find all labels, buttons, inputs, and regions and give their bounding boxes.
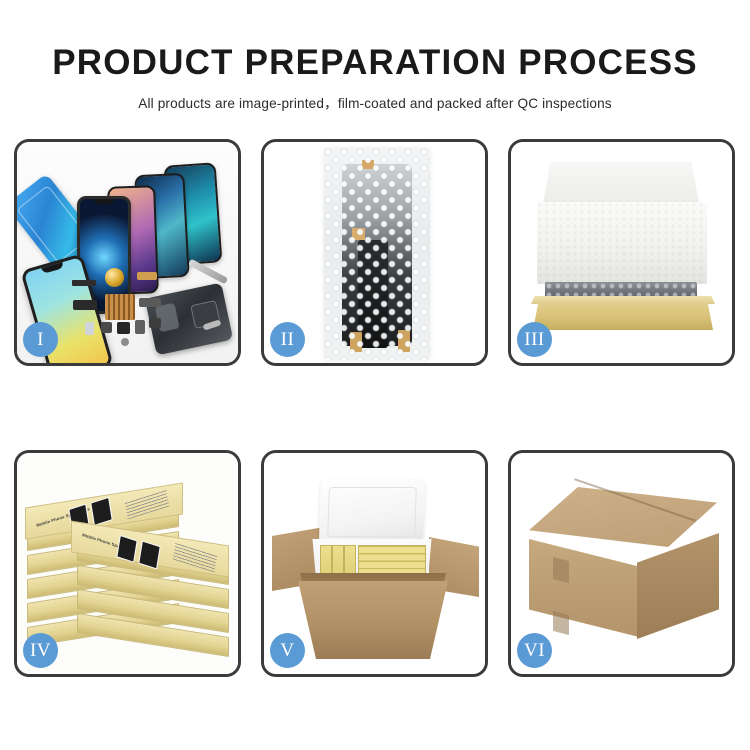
box-spec-lines-icon (125, 489, 169, 519)
page-subtitle: All products are image-printed，film-coat… (0, 82, 750, 112)
phone-notch-icon (41, 262, 64, 274)
step-panel-1[interactable]: I Mobile phone LCD screens, tempered gla… (14, 139, 241, 366)
step-badge-4: IV (23, 633, 58, 668)
step-badge-1: I (23, 322, 58, 357)
flex-cable-part-icon (73, 300, 97, 310)
step-panel-3[interactable]: III Item placed in yellow inner box with… (508, 139, 735, 366)
step-panel-5[interactable]: V Boxes loaded into styrofoam cooler ins… (261, 450, 488, 677)
box-spec-lines-icon (173, 542, 217, 572)
step-badge-2: II (270, 322, 305, 357)
small-part-icon (135, 320, 145, 334)
logic-board-part-icon (105, 294, 135, 320)
step-panel-4[interactable]: Mobile Phone Spare Parts Mobile Phone Sp… (14, 450, 241, 677)
step-badge-6: VI (517, 633, 552, 668)
box-artwork-screen-icon (116, 535, 137, 563)
vibration-motor-part-icon (105, 268, 124, 287)
step-panel-2[interactable]: II Single screen sealed in bubble wrap b… (261, 139, 488, 366)
box-artwork-screen-icon (90, 497, 113, 526)
small-part-icon (85, 322, 94, 335)
camera-module-part-icon (117, 322, 130, 334)
step-panel-6[interactable]: VI Sealed outer shipping carton ready fo… (508, 450, 735, 677)
small-part-icon (101, 322, 112, 333)
bubble-texture-icon (324, 148, 430, 360)
foam-sheet-icon (537, 202, 707, 284)
small-part-icon (149, 318, 161, 328)
carton-body-icon (298, 581, 448, 659)
step-badge-5: V (270, 633, 305, 668)
flex-cable-gold-part-icon (137, 272, 157, 280)
header: PRODUCT PREPARATION PROCESS All products… (0, 0, 750, 112)
infographic-page: PRODUCT PREPARATION PROCESS All products… (0, 0, 750, 750)
screw-part-icon (121, 338, 129, 346)
flex-cable-part-icon (139, 298, 161, 307)
carton-tape-mark-icon (553, 611, 569, 635)
bubble-wrap-bag-icon (324, 148, 430, 360)
phone-notch-icon (94, 199, 114, 204)
styrofoam-lid-icon (319, 479, 425, 545)
box-stack-icon: Mobile Phone Spare Parts Mobile Phone Sp… (21, 471, 233, 661)
carton-tape-mark-icon (553, 557, 569, 583)
process-step-grid: I Mobile phone LCD screens, tempered gla… (14, 139, 736, 679)
speaker-bar-part-icon (72, 280, 96, 286)
page-title: PRODUCT PREPARATION PROCESS (0, 0, 750, 82)
step-badge-3: III (517, 322, 552, 357)
yellow-box-tray-icon (533, 302, 713, 330)
